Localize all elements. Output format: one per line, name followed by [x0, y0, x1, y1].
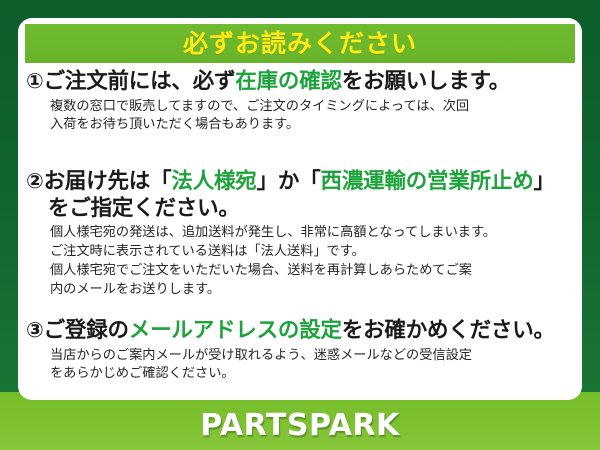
- notice-item-1-head-highlight: 在庫の確認: [235, 69, 342, 94]
- notice-item-3: ③ご登録のメールアドレスの設定をお確かめください。 当店からのご案内メールが受け…: [22, 317, 586, 384]
- page-title: 必ずお読みください: [183, 31, 417, 56]
- notice-item-1-body-line-2: 入荷をお待ち頂いただく場合もあります。: [50, 116, 582, 135]
- notice-item-3-number: ③: [26, 318, 44, 342]
- notice-item-3-head-part-1: ご登録の: [44, 318, 129, 343]
- notice-item-2: ②お届け先は「法人様宛」か「西濃運輸の営業所止め」 をご指定ください。 個人様宅…: [22, 168, 586, 299]
- notice-item-2-heading: ②お届け先は「法人様宛」か「西濃運輸の営業所止め」: [26, 168, 582, 196]
- white-content-panel: 必ずお読みください ①ご注文前には、必ず在庫の確認をお願いします。 複数の窓口で…: [18, 18, 582, 400]
- notice-item-1: ①ご注文前には、必ず在庫の確認をお願いします。 複数の窓口で販売してますので、ご…: [22, 68, 586, 135]
- notice-item-3-body-line-2: をあらかじめご確認ください。: [50, 365, 582, 384]
- notice-item-1-head-part-3: をお願いします。: [342, 69, 510, 94]
- notice-item-2-head-part-5: 」: [534, 169, 555, 194]
- notice-item-3-heading: ③ご登録のメールアドレスの設定をお確かめください。: [26, 317, 582, 345]
- notice-item-2-heading-continuation: をご指定ください。: [26, 196, 582, 223]
- notice-item-2-head-highlight-2: 西濃運輸の営業所止め: [321, 169, 534, 194]
- notice-item-3-head-part-3: をお確かめください。: [342, 318, 555, 343]
- notice-item-2-head-highlight-1: 法人様宛: [171, 169, 256, 194]
- notice-item-2-body-line-4: 内のメールをお送りします。: [50, 281, 582, 300]
- notice-item-2-head-part-1: お届け先は「: [44, 169, 172, 194]
- notice-item-3-body-line-1: 当店からのご案内メールが受け取れるよう、迷惑メールなどの受信設定: [50, 347, 582, 366]
- brand-logo-partspark: PARTSPARK: [200, 408, 400, 443]
- title-band: 必ずお読みください: [25, 24, 575, 63]
- notice-item-2-body-line-3: 個人様宅宛でご注文をいただいた場合、送料を再計算しあらためてご案: [50, 262, 582, 281]
- notice-banner: 必ずお読みください ①ご注文前には、必ず在庫の確認をお願いします。 複数の窓口で…: [0, 0, 600, 450]
- notice-item-1-body-line-1: 複数の窓口で販売してますので、ご注文のタイミングによっては、次回: [50, 98, 582, 117]
- notice-item-1-heading: ①ご注文前には、必ず在庫の確認をお願いします。: [26, 68, 582, 96]
- notice-item-1-head-part-1: ご注文前には、必ず: [44, 69, 236, 94]
- notice-item-1-body: 複数の窓口で販売してますので、ご注文のタイミングによっては、次回 入荷をお待ち頂…: [26, 98, 582, 135]
- notice-item-1-number: ①: [26, 69, 44, 93]
- footer-logo-area: PARTSPARK: [0, 400, 600, 450]
- notice-item-2-number: ②: [26, 169, 44, 193]
- notice-item-3-body: 当店からのご案内メールが受け取れるよう、迷惑メールなどの受信設定 をあらかじめご…: [26, 347, 582, 384]
- notice-item-2-body-line-1: 個人様宅宛の発送は、追加送料が発生し、非常に高額となってしまいます。: [50, 224, 582, 243]
- notice-item-2-body: 個人様宅宛の発送は、追加送料が発生し、非常に高額となってしまいます。 ご注文時に…: [26, 224, 582, 299]
- notice-item-2-head-part-3: 」か「: [257, 169, 321, 194]
- notice-item-3-head-highlight: メールアドレスの設定: [129, 318, 342, 343]
- notice-item-2-body-line-2: ご注文時に表示されている送料は「法人送料」です。: [50, 243, 582, 262]
